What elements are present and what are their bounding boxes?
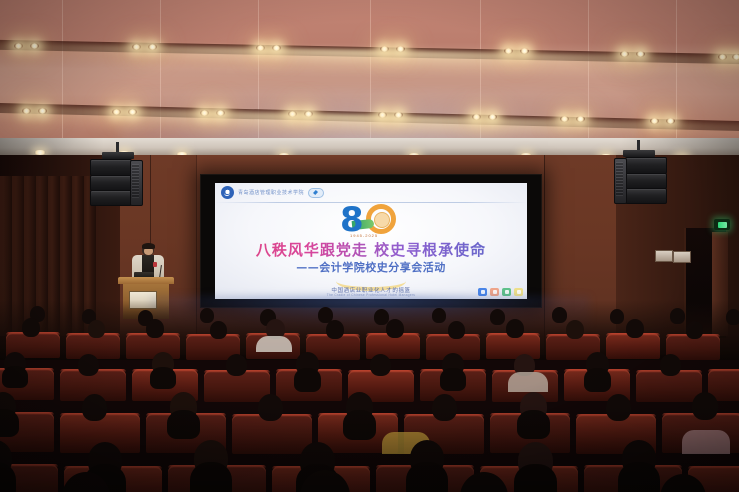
audience-head	[610, 309, 624, 324]
anniversary-numeral: 8	[340, 203, 364, 237]
presenter-hair	[142, 243, 155, 249]
audience-hair	[2, 366, 28, 388]
ceiling-lamp	[200, 110, 209, 116]
ceiling-lamp	[378, 112, 387, 118]
ceiling-lamp	[132, 44, 141, 50]
ceiling-lamp	[22, 108, 31, 114]
ceiling-lamp	[112, 109, 121, 115]
audience-head	[448, 321, 465, 339]
anniversary-logo: 8 1945-2025	[326, 203, 416, 239]
audience-head	[432, 394, 457, 421]
ceiling-lamp	[520, 48, 529, 54]
slide-surface: 青岛酒店管理职业技术学院 8 1945-2025 八秩风华跟党走 校史寻根承使命…	[215, 183, 527, 299]
audience-head	[686, 321, 703, 339]
audience-head	[200, 308, 214, 323]
ceiling-lamp	[380, 46, 389, 52]
weibo-icon	[490, 288, 499, 296]
slide-title: 八秩风华跟党走 校史寻根承使命	[215, 239, 527, 260]
ceiling-lamp	[650, 118, 659, 124]
audience-hair	[190, 462, 232, 492]
speaker-cabinet	[625, 188, 667, 204]
speaker-cabinet	[625, 157, 667, 174]
audience-head	[326, 320, 344, 339]
audience-head	[146, 319, 164, 338]
ceiling-lamp	[396, 46, 405, 52]
ceiling-lamp	[488, 114, 497, 120]
presenter-badge	[153, 262, 157, 267]
audience-head	[432, 308, 446, 323]
audience-shoulders	[508, 372, 548, 392]
wall-plaque	[655, 250, 673, 262]
ceiling-lamp	[14, 43, 23, 49]
ceiling-lamp	[718, 54, 727, 60]
audience-hair	[294, 368, 321, 392]
audience-head	[82, 394, 107, 421]
audience-hair	[406, 462, 448, 492]
exit-sign	[714, 219, 730, 230]
audience-head	[22, 318, 40, 337]
speaker-cabinet	[90, 190, 132, 206]
audience-hair	[514, 464, 557, 492]
auditorium-photo: 青岛酒店管理职业技术学院 8 1945-2025 八秩风华跟党走 校史寻根承使命…	[0, 0, 739, 492]
slide-institution-name: 青岛酒店管理职业技术学院	[238, 189, 304, 196]
audience-head	[258, 394, 283, 421]
audience-shoulders	[256, 336, 292, 352]
qq-icon	[514, 288, 523, 296]
audience-hair	[618, 462, 660, 492]
wall-plaque	[673, 251, 691, 263]
slide-header: 青岛酒店管理职业技术学院	[215, 183, 527, 202]
speaker-cabinet	[90, 175, 132, 191]
audience-head	[692, 392, 718, 420]
exit-running-man-icon	[718, 222, 727, 228]
ceiling	[0, 0, 739, 152]
ceiling-lamp	[666, 118, 675, 124]
ceiling-lamp	[472, 114, 481, 120]
ceiling-lamp	[288, 111, 297, 117]
audience-hair	[440, 368, 466, 391]
ceiling-lamp	[636, 51, 645, 57]
audience-head	[490, 309, 505, 325]
audience-head	[566, 320, 584, 339]
audience	[0, 300, 739, 492]
audience-head	[506, 319, 524, 338]
ceiling-lamp	[128, 109, 137, 115]
ceiling-lamp	[38, 108, 47, 114]
audience-head	[88, 320, 105, 338]
audience-head	[626, 319, 644, 338]
audience-head	[78, 354, 99, 376]
audience-head	[386, 319, 404, 338]
ceiling-lamp	[732, 54, 739, 60]
audience-hair	[584, 368, 611, 392]
wechat-icon	[478, 288, 487, 296]
speaker-cabinet	[90, 159, 132, 176]
audience-head	[552, 307, 567, 323]
audience-hair	[0, 409, 19, 437]
audience-head	[660, 354, 681, 376]
douyin-icon	[502, 288, 511, 296]
ceiling-lamp	[620, 51, 629, 57]
podium-top	[118, 277, 174, 284]
bird-badge-icon	[308, 188, 324, 198]
ceiling-lamp	[504, 48, 513, 54]
ceiling-lamp	[304, 111, 313, 117]
audience-hair	[343, 410, 376, 440]
ceiling-lamp	[256, 45, 265, 51]
ceiling-lamp	[576, 116, 585, 122]
ceiling-lamp	[30, 43, 39, 49]
anniversary-inner-seal	[374, 212, 390, 228]
ceiling-lamp	[272, 45, 281, 51]
anniversary-years: 1945-2025	[350, 233, 378, 238]
audience-head	[606, 394, 631, 421]
ceiling-lamp	[216, 110, 225, 116]
projection-screen: 青岛酒店管理职业技术学院 8 1945-2025 八秩风华跟党走 校史寻根承使命…	[200, 174, 542, 308]
audience-hair	[150, 367, 176, 389]
ceiling-lamp	[148, 44, 157, 50]
audience-head	[726, 309, 739, 325]
ceiling-lamp	[560, 116, 569, 122]
audience-head	[670, 308, 685, 324]
audience-head	[210, 321, 227, 339]
audience-head	[226, 354, 247, 376]
slide-social-icons	[478, 288, 523, 296]
audience-head	[370, 354, 391, 376]
audience-hair	[517, 410, 550, 439]
speaker-cabinet	[625, 173, 667, 189]
audience-shoulders	[682, 430, 730, 454]
ceiling-lamp	[394, 112, 403, 118]
school-emblem-icon	[221, 186, 234, 199]
audience-hair	[167, 410, 200, 439]
